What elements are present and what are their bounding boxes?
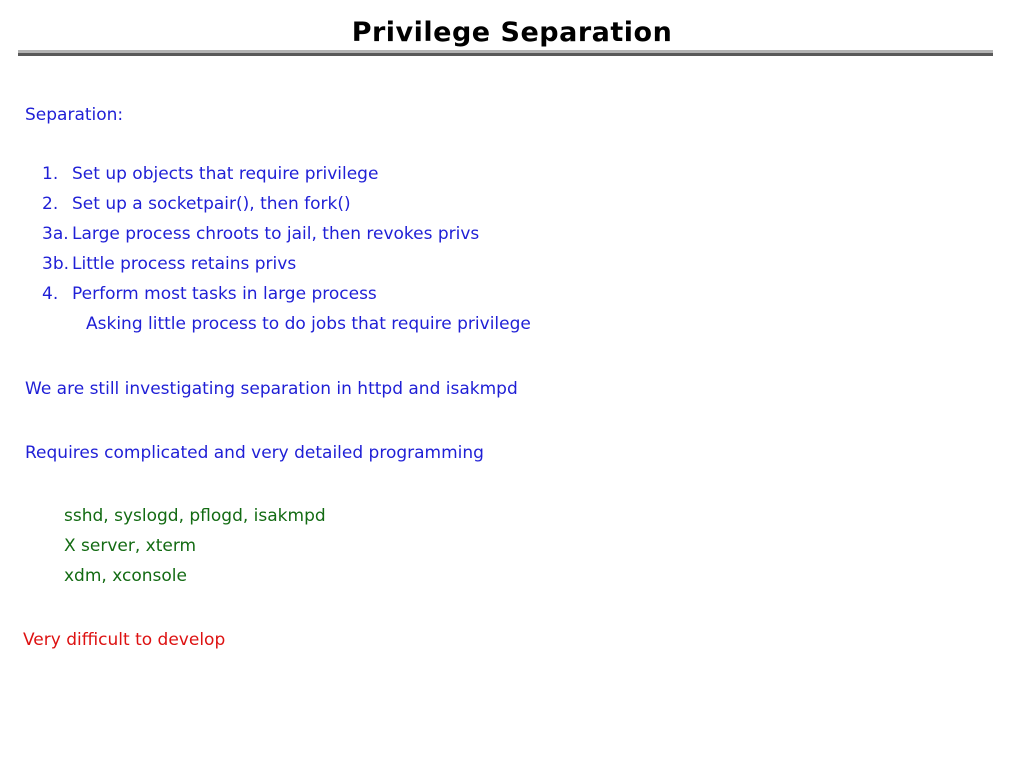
note-requires: Requires complicated and very detailed p… (25, 438, 484, 468)
list-item-marker: 2. (42, 189, 72, 219)
note-investigating: We are still investigating separation in… (25, 374, 518, 404)
list-item: 2.Set up a socketpair(), then fork() (42, 189, 942, 219)
page-title: Privilege Separation (0, 17, 1024, 48)
list-item: 3a.Large process chroots to jail, then r… (42, 219, 942, 249)
list-item-marker: 3b. (42, 249, 72, 279)
list-item-marker: 4. (42, 279, 72, 309)
divider-dark-band (18, 53, 993, 56)
program-list: sshd, syslogd, pflogd, isakmpd X server,… (64, 501, 326, 591)
list-item: 3b.Little process retains privs (42, 249, 942, 279)
slide-canvas: Privilege Separation Separation: 1.Set u… (0, 0, 1024, 768)
title-divider (18, 50, 993, 56)
list-item-continuation: Asking little process to do jobs that re… (42, 309, 942, 339)
list-item: 1.Set up objects that require privilege (42, 159, 942, 189)
list-item-marker: 3a. (42, 219, 72, 249)
list-item: sshd, syslogd, pflogd, isakmpd (64, 501, 326, 531)
list-item: 4.Perform most tasks in large process (42, 279, 942, 309)
numbered-step-list: 1.Set up objects that require privilege … (42, 159, 942, 339)
list-item-label: Large process chroots to jail, then revo… (72, 219, 479, 249)
list-item: X server, xterm (64, 531, 326, 561)
list-item-marker: 1. (42, 159, 72, 189)
list-item-label: Perform most tasks in large process (72, 279, 377, 309)
list-item-label: Set up objects that require privilege (72, 159, 378, 189)
section-heading-separation: Separation: (25, 100, 123, 130)
list-item-label: Set up a socketpair(), then fork() (72, 189, 351, 219)
closing-statement: Very difficult to develop (23, 625, 225, 655)
list-item-label: Little process retains privs (72, 249, 296, 279)
list-item: xdm, xconsole (64, 561, 326, 591)
